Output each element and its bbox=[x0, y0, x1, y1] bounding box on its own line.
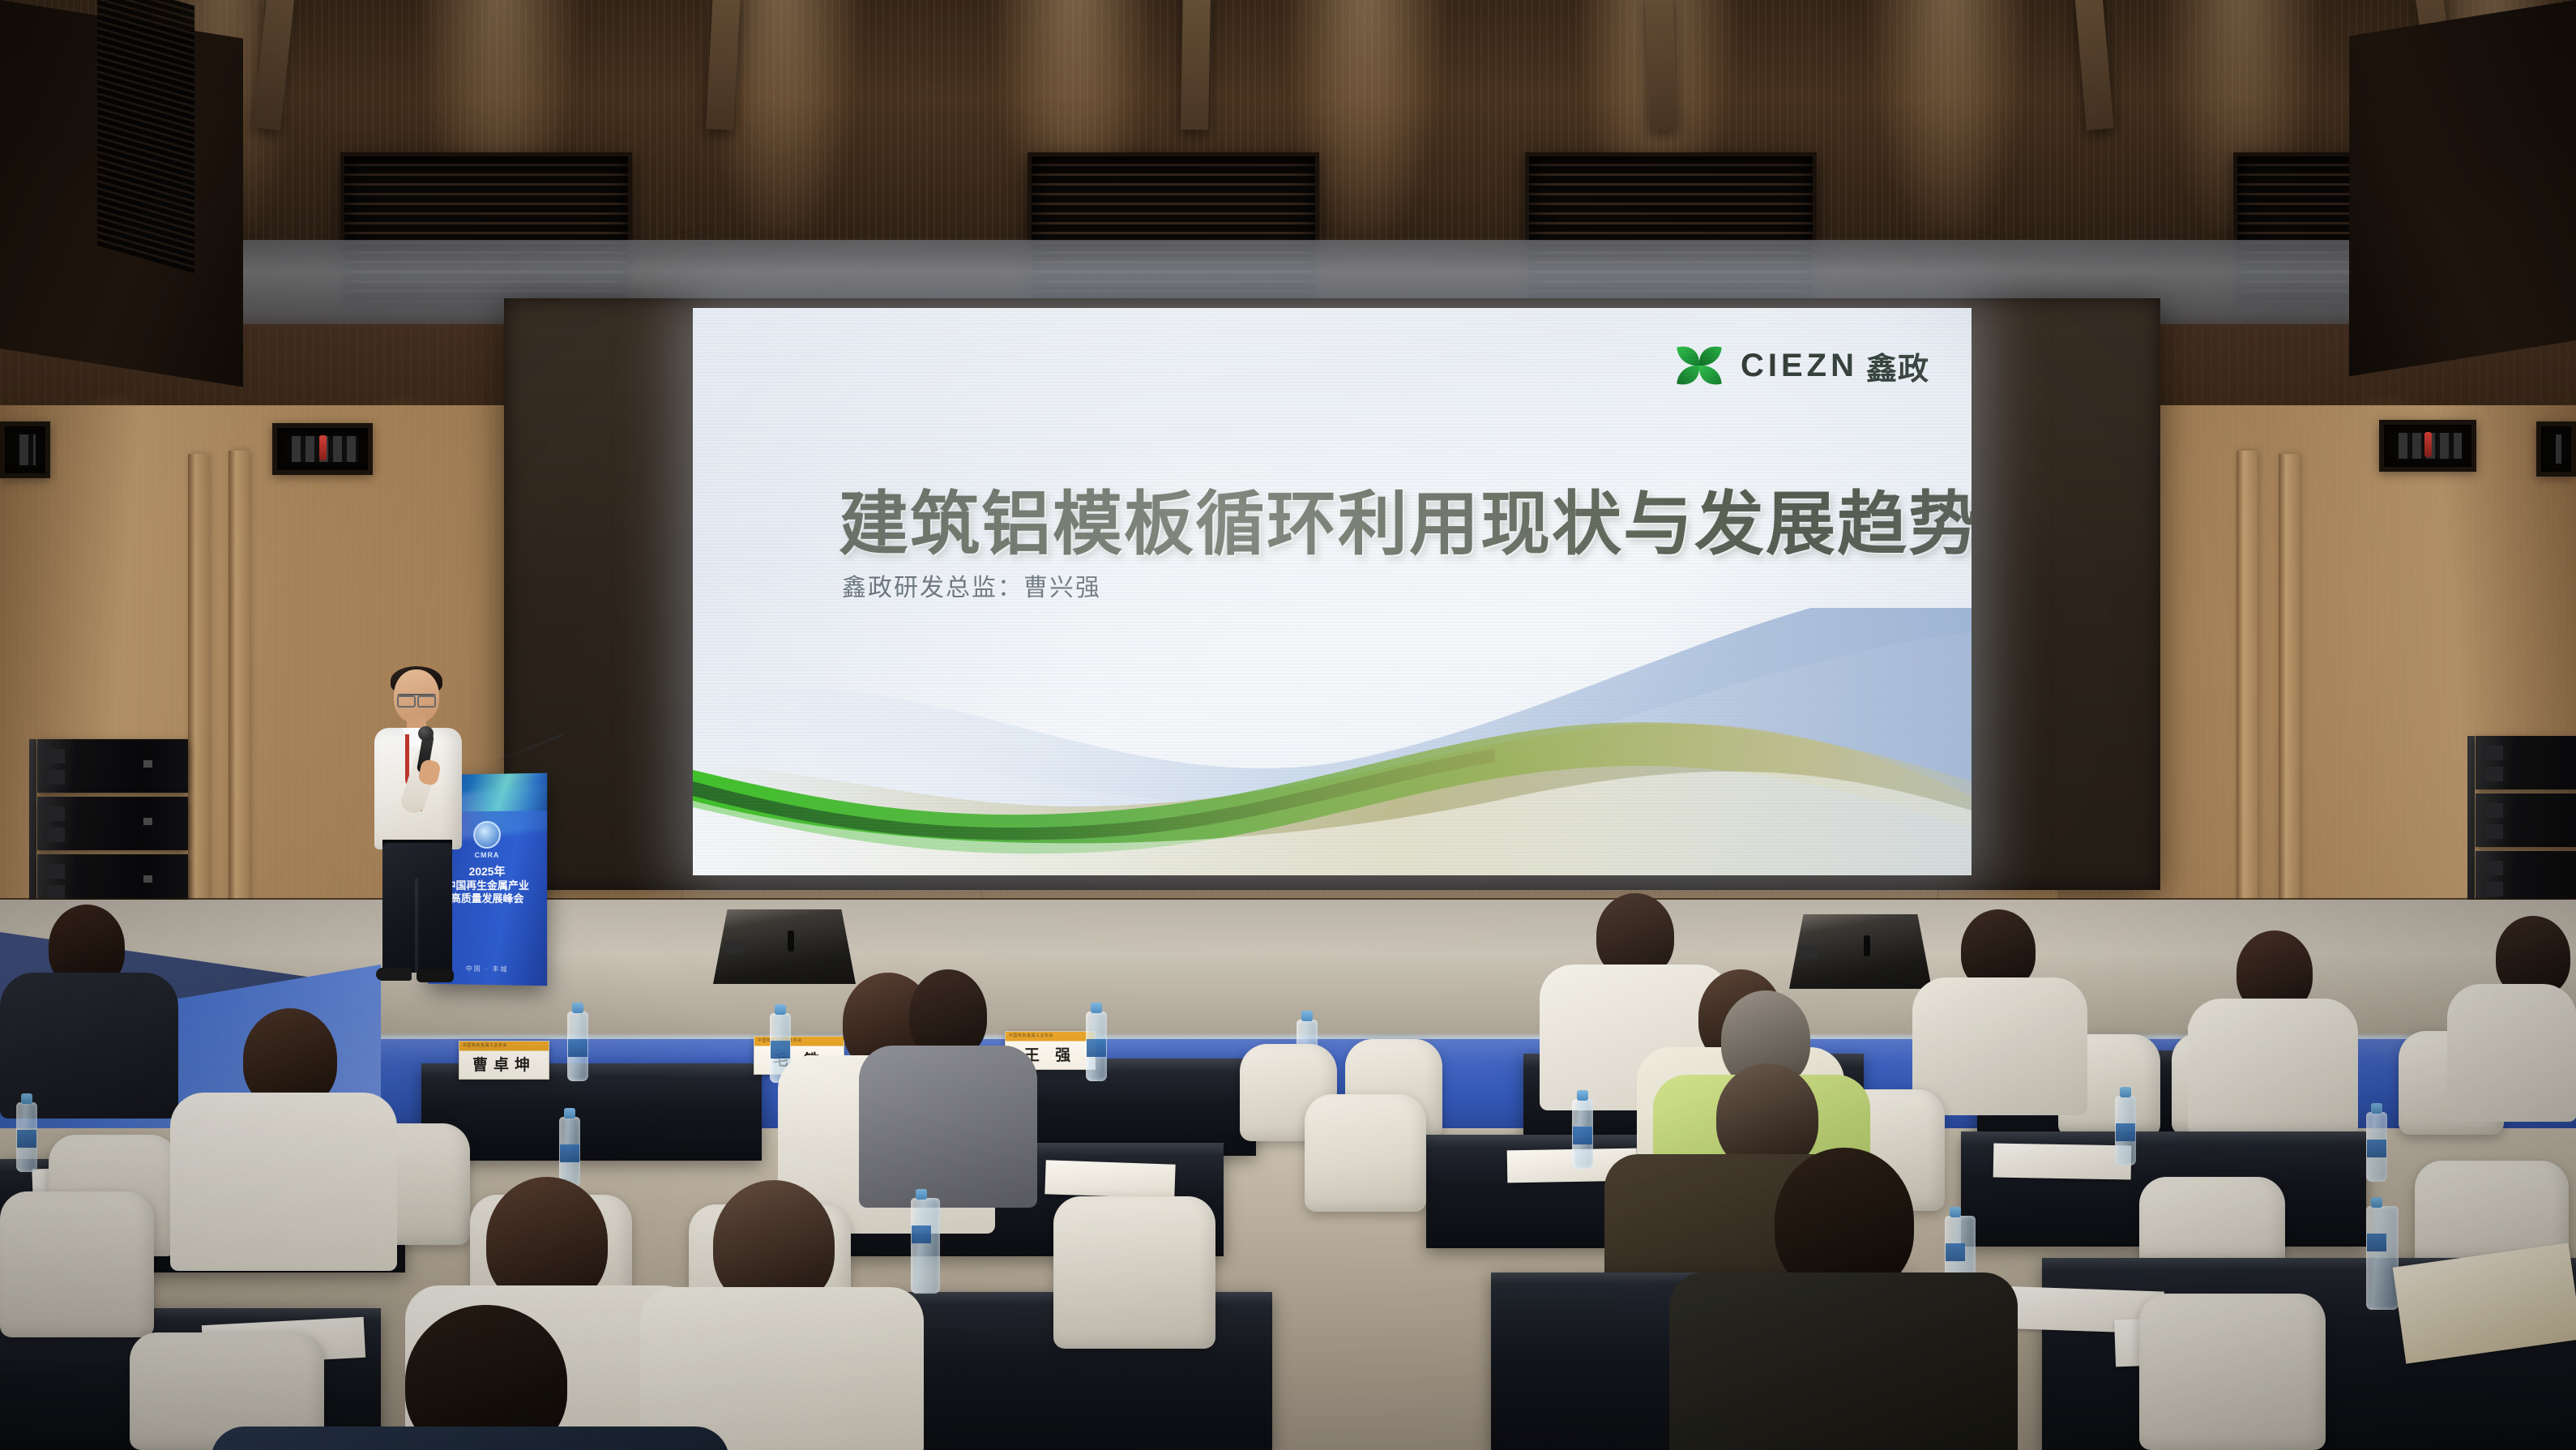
stage-monitor-speaker bbox=[1789, 914, 1932, 989]
audience-chair bbox=[2139, 1294, 2326, 1450]
water-bottle bbox=[1572, 1099, 1593, 1169]
led-screen-frame: CIEZN 鑫政 建筑铝模板循环利用现状与发展趋势 鑫政研发总监：曹兴强 bbox=[504, 298, 2160, 890]
monitor-input-jack bbox=[724, 941, 742, 954]
audience-person-body bbox=[170, 1093, 397, 1271]
audience-person-body bbox=[1912, 977, 2087, 1115]
cmra-emblem-icon bbox=[473, 821, 501, 849]
brand-wordmark-latin: CIEZN bbox=[1741, 348, 1858, 384]
slide-subtitle: 鑫政研发总监：曹兴强 bbox=[842, 567, 1101, 603]
name-placard: 中国有色金属工业协会 曹卓坤 bbox=[459, 1041, 549, 1080]
niche-louvers bbox=[19, 434, 36, 465]
ceiling-beam bbox=[1181, 0, 1211, 130]
placard-org: 中国有色金属工业协会 bbox=[1009, 1033, 1053, 1038]
fire-extinguisher-icon bbox=[319, 435, 327, 460]
ceiling-grille-left bbox=[97, 0, 194, 273]
presenter-shoe bbox=[417, 969, 454, 982]
speaker-cabinet bbox=[2476, 736, 2576, 789]
speaker-cabinet bbox=[37, 797, 188, 850]
water-bottle bbox=[2366, 1112, 2387, 1182]
ceiling-soffit-right bbox=[2349, 0, 2576, 376]
audience-person-body bbox=[640, 1287, 924, 1450]
monitor-handle-slot bbox=[1864, 935, 1870, 956]
presenter-shoe bbox=[376, 968, 412, 981]
water-bottle bbox=[559, 1117, 580, 1187]
audience-chair bbox=[1305, 1094, 1426, 1212]
monitor-handle-slot bbox=[788, 930, 794, 952]
niche-louvers bbox=[2556, 434, 2561, 464]
cmra-emblem-label: CMRA bbox=[475, 851, 500, 859]
placard-name: 曹卓坤 bbox=[472, 1053, 536, 1079]
water-bottle bbox=[567, 1012, 588, 1081]
slide-title: 建筑铝模板循环利用现状与发展趋势 bbox=[839, 467, 1972, 568]
presentation-slide[interactable]: CIEZN 鑫政 建筑铝模板循环利用现状与发展趋势 鑫政研发总监：曹兴强 bbox=[693, 308, 1972, 875]
audience-person-body bbox=[2188, 999, 2358, 1135]
wall-niche bbox=[2379, 420, 2476, 472]
slide-wave-graphic bbox=[693, 608, 1972, 875]
placard-org: 中国有色金属工业协会 bbox=[463, 1042, 507, 1048]
wall-niche bbox=[2536, 421, 2576, 477]
water-bottle bbox=[1086, 1012, 1107, 1081]
wall-niche bbox=[0, 421, 50, 478]
glasses-icon bbox=[397, 694, 436, 703]
audience-chair bbox=[1053, 1196, 1215, 1349]
audience-person-body bbox=[2447, 984, 2576, 1122]
slide-brand-logo: CIEZN 鑫政 bbox=[1672, 339, 1929, 392]
ceiling-beam bbox=[1645, 0, 1677, 130]
presenter-speaker bbox=[366, 669, 472, 986]
monitor-input-jack bbox=[1801, 946, 1818, 959]
handout-paper bbox=[1993, 1144, 2132, 1180]
brand-wordmark: CIEZN 鑫政 bbox=[1741, 344, 1929, 388]
speaker-cabinet bbox=[37, 739, 188, 793]
water-bottle bbox=[16, 1102, 37, 1172]
conference-hall-photo: CIEZN 鑫政 建筑铝模板循环利用现状与发展趋势 鑫政研发总监：曹兴强 bbox=[0, 0, 2576, 1450]
audience-chair bbox=[0, 1191, 154, 1337]
audience-person-body-foreground bbox=[211, 1426, 729, 1450]
microphone-head bbox=[418, 726, 434, 741]
ciezn-pinwheel-logo bbox=[1672, 339, 1726, 392]
brand-wordmark-chinese: 鑫政 bbox=[1866, 344, 1929, 388]
audience-person-body bbox=[1669, 1272, 2018, 1450]
audience-person-body bbox=[859, 1046, 1037, 1208]
speaker-cabinet bbox=[2476, 793, 2576, 847]
stage-monitor-speaker bbox=[713, 909, 856, 984]
trouser-seam bbox=[415, 879, 418, 973]
water-bottle bbox=[2115, 1096, 2136, 1166]
speaker-cabinet bbox=[2476, 851, 2576, 905]
water-bottle bbox=[2366, 1206, 2399, 1310]
wall-niche bbox=[272, 423, 373, 475]
handout-paper bbox=[1044, 1160, 1175, 1199]
ceiling-glow bbox=[1872, 0, 2026, 235]
water-bottle bbox=[911, 1198, 940, 1294]
fire-extinguisher-icon bbox=[2424, 432, 2432, 456]
